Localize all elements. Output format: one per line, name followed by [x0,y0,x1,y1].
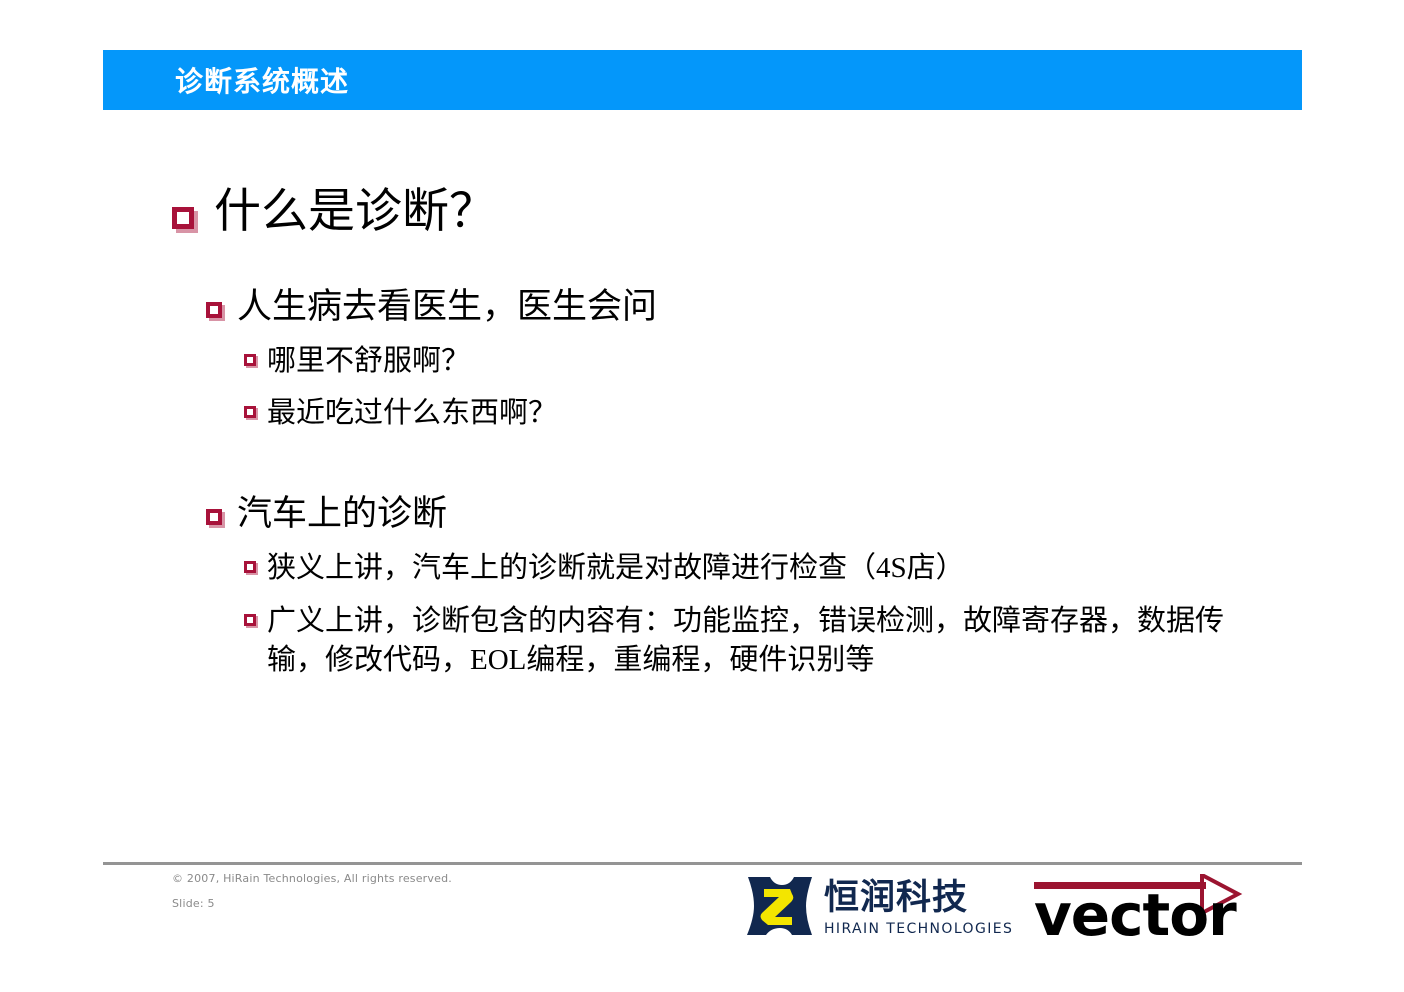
bullet-item-level3: 狭义上讲，汽车上的诊断就是对故障进行检查（4S店） [244,549,1302,588]
bullet-item-level3: 最近吃过什么东西啊？ [244,394,1302,433]
bullet-text: 什么是诊断？ [214,185,496,240]
vector-wordmark: vector [1034,886,1236,944]
footer-divider [103,862,1302,865]
bullet-item-level3: 哪里不舒服啊？ [244,342,1302,381]
slide-body: 什么是诊断？ 人生病去看医生，医生会问 哪里不舒服啊？ 最近吃过什么东西啊？ 汽… [103,185,1302,680]
bullet-item-level1: 什么是诊断？ [172,185,1302,240]
square-bullet-icon [172,207,194,229]
slide-title: 诊断系统概述 [175,60,349,100]
hirain-logo: 恒润科技 HIRAIN TECHNOLOGIES [742,873,1013,944]
hirain-wordmark: 恒润科技 HIRAIN TECHNOLOGIES [824,881,1013,937]
copyright-text: © 2007, HiRain Technologies, All rights … [172,873,452,885]
bullet-text: 狭义上讲，汽车上的诊断就是对故障进行检查（4S店） [267,549,965,588]
square-bullet-icon [206,302,222,318]
bullet-text: 汽车上的诊断 [237,493,447,535]
slide-title-bar: 诊断系统概述 [103,50,1302,110]
bullet-text: 广义上讲，诊断包含的内容有：功能监控，错误检测，故障寄存器，数据传输，修改代码，… [267,602,1242,680]
square-bullet-icon [244,354,256,366]
footer: © 2007, HiRain Technologies, All rights … [172,873,452,910]
bullet-item-level3: 广义上讲，诊断包含的内容有：功能监控，错误检测，故障寄存器，数据传输，修改代码，… [244,602,1302,680]
square-bullet-icon [244,614,256,626]
bullet-text: 哪里不舒服啊？ [267,342,470,381]
vector-logo: vector [1034,874,1244,940]
slide-number: Slide: 5 [172,898,452,910]
hirain-english-name: HIRAIN TECHNOLOGIES [824,921,1013,937]
square-bullet-icon [244,406,256,418]
bullet-item-level2: 汽车上的诊断 [206,493,1302,535]
square-bullet-icon [244,561,256,573]
bullet-item-level2: 人生病去看医生，医生会问 [206,286,1302,328]
spacer [103,433,1302,477]
square-bullet-icon [206,509,222,525]
presentation-slide: 诊断系统概述 什么是诊断？ 人生病去看医生，医生会问 哪里不舒服啊？ 最近吃过什… [0,0,1404,992]
hirain-chinese-name: 恒润科技 [824,881,1013,916]
bullet-text: 人生病去看医生，医生会问 [237,286,657,328]
bullet-text: 最近吃过什么东西啊？ [267,394,557,433]
hirain-mark-icon [742,873,814,944]
spacer [103,240,1302,270]
